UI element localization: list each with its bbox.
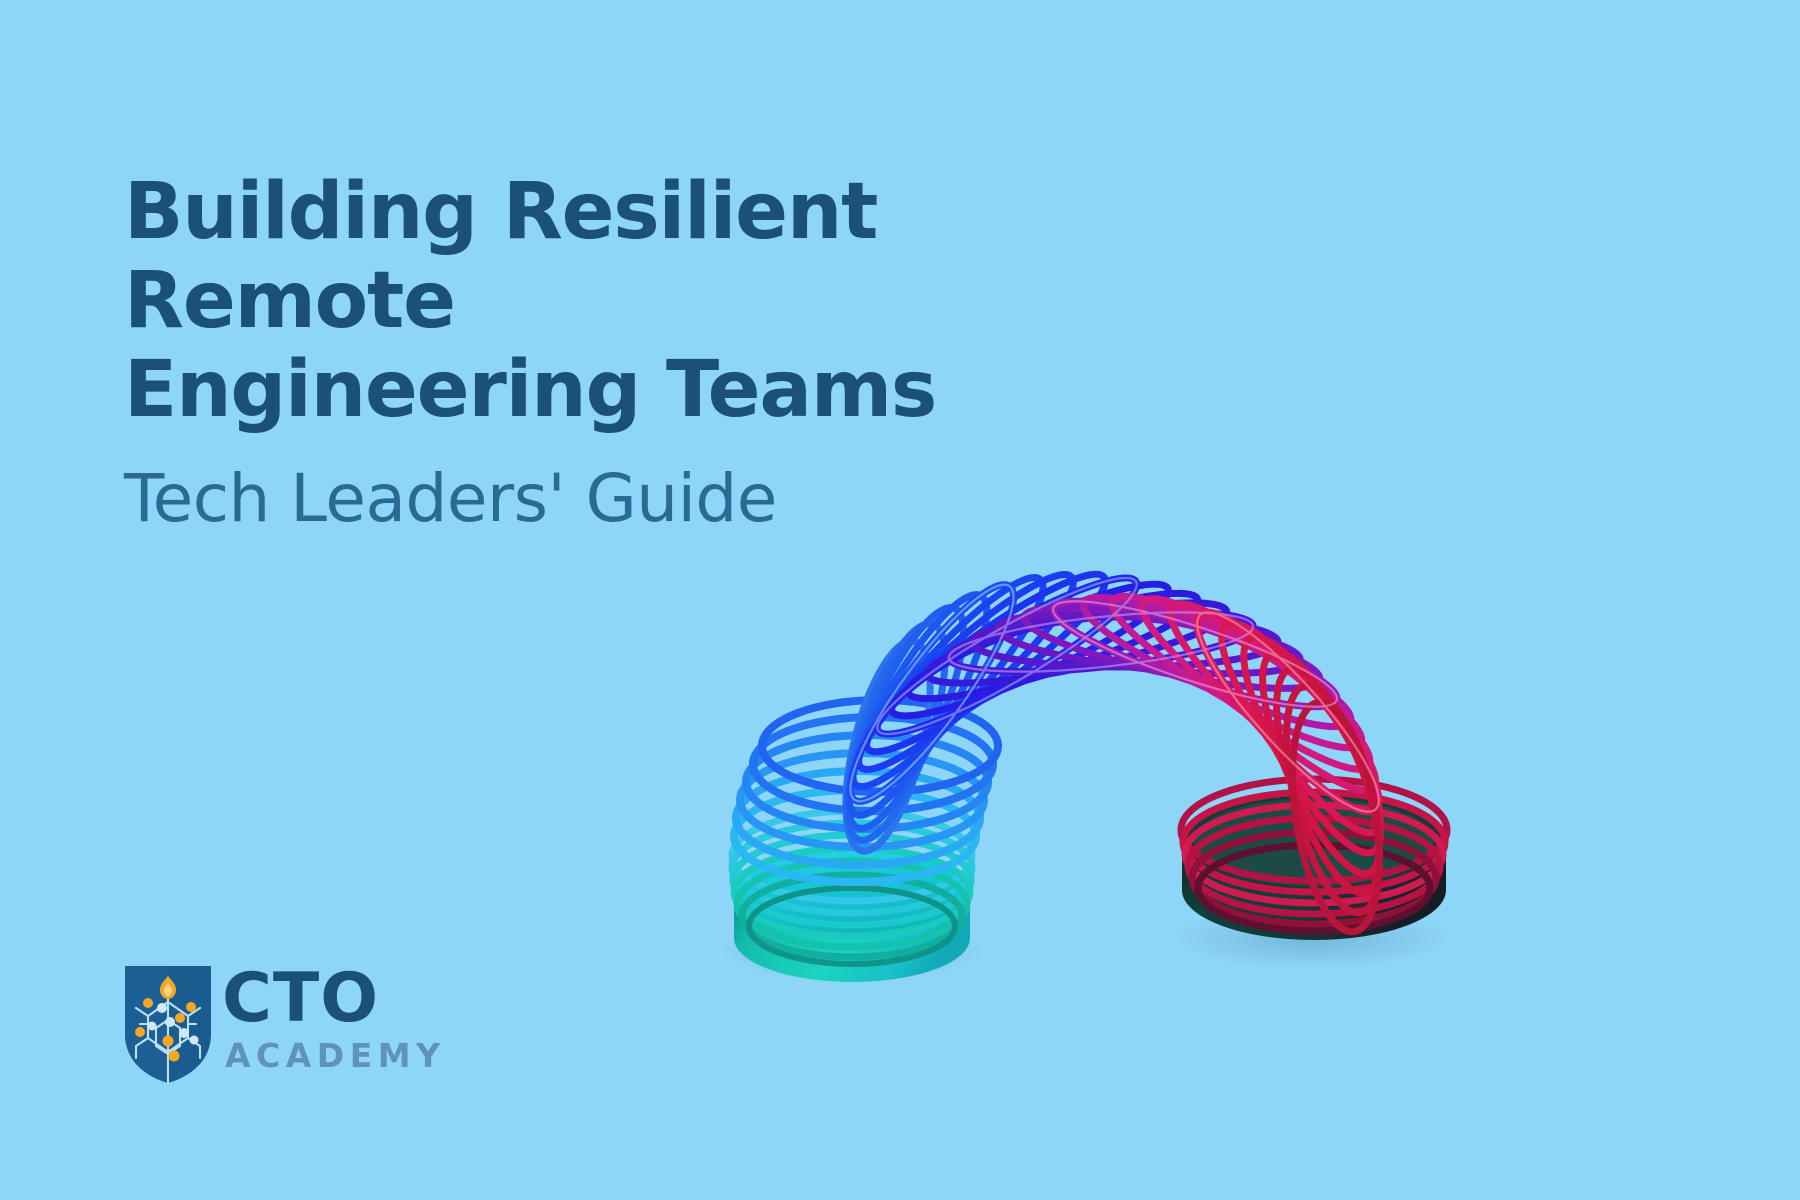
cto-academy-logo[interactable]: CTO ACADEMY <box>122 962 445 1086</box>
poster-canvas: Building Resilient Remote Engineering Te… <box>0 0 1800 1200</box>
logo-brand-cto: CTO <box>222 966 445 1031</box>
logo-brand-academy: ACADEMY <box>225 1039 445 1072</box>
text-block: Building Resilient Remote Engineering Te… <box>124 168 1204 535</box>
shield-circuit-icon <box>122 962 214 1086</box>
logo-wordmark: CTO ACADEMY <box>222 966 445 1072</box>
page-title: Building Resilient Remote Engineering Te… <box>124 168 1204 435</box>
rainbow-slinky-svg <box>700 500 1480 1100</box>
rainbow-slinky-image <box>700 500 1480 1100</box>
